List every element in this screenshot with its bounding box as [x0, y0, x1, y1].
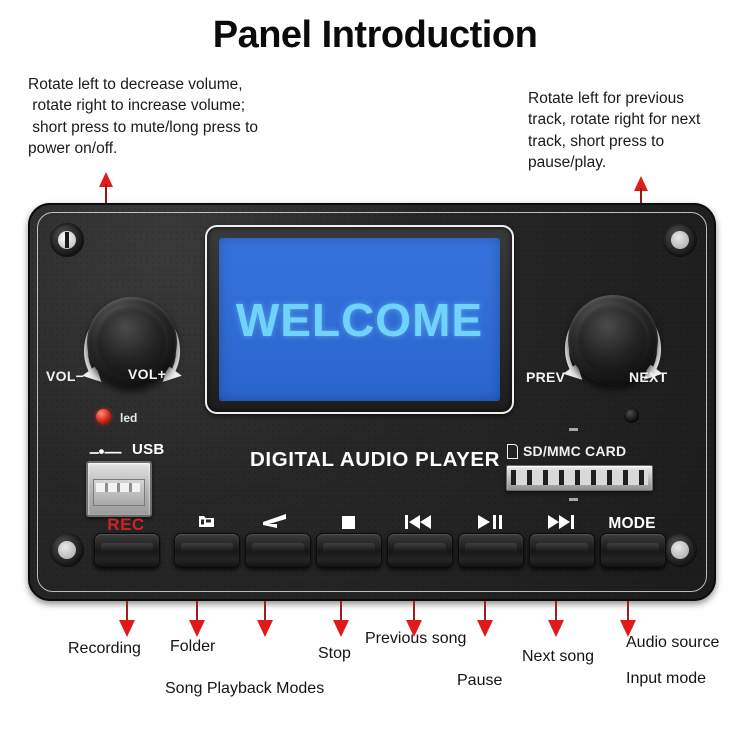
callout-left-line-4: power on/off.	[28, 138, 358, 159]
caption-next-song: Next song	[522, 648, 594, 666]
caption-stop: Stop	[318, 645, 351, 663]
repeat-icon	[242, 511, 306, 533]
track-knob-label-next: NEXT	[629, 369, 668, 385]
folder-icon-svg	[198, 513, 215, 529]
folder-button[interactable]	[174, 533, 240, 568]
ir-receiver	[624, 408, 639, 423]
panel-introduction-figure: Panel Introduction Rotate left to decrea…	[0, 0, 750, 750]
usb-trident-icon: ⎯•—	[90, 443, 121, 460]
next-button[interactable]	[529, 533, 595, 568]
brand-label: DIGITAL AUDIO PLAYER	[250, 448, 500, 472]
previous-track-icon-svg	[405, 515, 431, 529]
board-tick-bottom	[569, 498, 578, 501]
screw-bottom-right	[663, 533, 697, 567]
lcd-bezel: WELCOME	[205, 225, 514, 414]
mode-button-icon: MODE	[600, 516, 664, 532]
play-pause-button[interactable]	[458, 533, 524, 568]
callout-left-line-2: rotate right to increase volume;	[28, 95, 358, 116]
audio-player-board: VOL− VOL+ PREV NEXT WELCOME led ⎯•— USB …	[28, 203, 716, 601]
pointer-arrow-audio-source	[621, 601, 635, 637]
callout-right-line-1: Rotate left for previous	[528, 88, 746, 109]
play-pause-icon-svg	[478, 515, 502, 529]
usb-port[interactable]	[86, 461, 152, 517]
led-label: led	[120, 411, 137, 425]
rec-button[interactable]	[94, 533, 160, 568]
screw-top-right	[663, 223, 697, 257]
callout-left-line-1: Rotate left to decrease volume,	[28, 74, 358, 95]
screw-top-left	[50, 223, 84, 257]
board-tick-top	[569, 428, 578, 431]
caption-input-mode: Input mode	[626, 670, 706, 688]
status-led	[96, 409, 111, 424]
page-title: Panel Introduction	[0, 14, 750, 57]
pointer-arrow-playback-modes	[258, 601, 272, 637]
previous-track-icon	[386, 515, 450, 533]
play-pause-icon	[458, 515, 522, 533]
volume-knob-callout: Rotate left to decrease volume, rotate r…	[28, 74, 358, 160]
pointer-arrow-pause	[478, 601, 492, 637]
caption-previous-song: Previous song	[365, 630, 466, 648]
track-knob-callout: Rotate left for previous track, rotate r…	[528, 88, 746, 174]
next-track-icon-svg	[548, 515, 574, 529]
sd-card-label: SD/MMC CARD	[507, 443, 626, 459]
stop-icon	[316, 516, 380, 533]
caption-playback-modes: Song Playback Modes	[165, 680, 324, 698]
screw-bottom-left	[50, 533, 84, 567]
stop-icon-svg	[342, 516, 355, 529]
playback-mode-button[interactable]	[245, 533, 311, 568]
sd-card-slot[interactable]	[506, 465, 653, 491]
track-knob-label-prev: PREV	[526, 369, 565, 385]
pointer-arrow-next-song	[549, 601, 563, 637]
pointer-arrow-stop	[334, 601, 348, 637]
callout-right-line-4: pause/play.	[528, 152, 746, 173]
lcd-text: WELCOME	[236, 293, 483, 347]
mode-button[interactable]	[600, 533, 666, 568]
previous-button[interactable]	[387, 533, 453, 568]
next-track-icon	[529, 515, 593, 533]
sd-card-label-text: SD/MMC CARD	[523, 443, 626, 459]
volume-knob-label-up: VOL+	[128, 366, 166, 382]
pointer-arrow-folder	[190, 601, 204, 637]
usb-label: USB	[132, 441, 165, 458]
folder-icon	[174, 513, 238, 533]
sd-card-icon	[507, 444, 518, 459]
volume-knob-label-down: VOL−	[46, 368, 84, 384]
repeat-icon-svg	[259, 511, 289, 529]
caption-recording: Recording	[68, 640, 141, 658]
pointer-arrow-recording	[120, 601, 134, 637]
callout-left-line-3: short press to mute/long press to	[28, 117, 358, 138]
caption-folder: Folder	[170, 638, 215, 656]
stop-button[interactable]	[316, 533, 382, 568]
volume-knob[interactable]	[73, 283, 191, 401]
lcd-screen: WELCOME	[219, 238, 500, 401]
caption-audio-source: Audio source	[626, 634, 719, 652]
callout-right-line-2: track, rotate right for next	[528, 109, 746, 130]
callout-right-line-3: track, short press to	[528, 131, 746, 152]
rec-button-icon: REC	[94, 516, 158, 533]
caption-pause: Pause	[457, 672, 502, 690]
